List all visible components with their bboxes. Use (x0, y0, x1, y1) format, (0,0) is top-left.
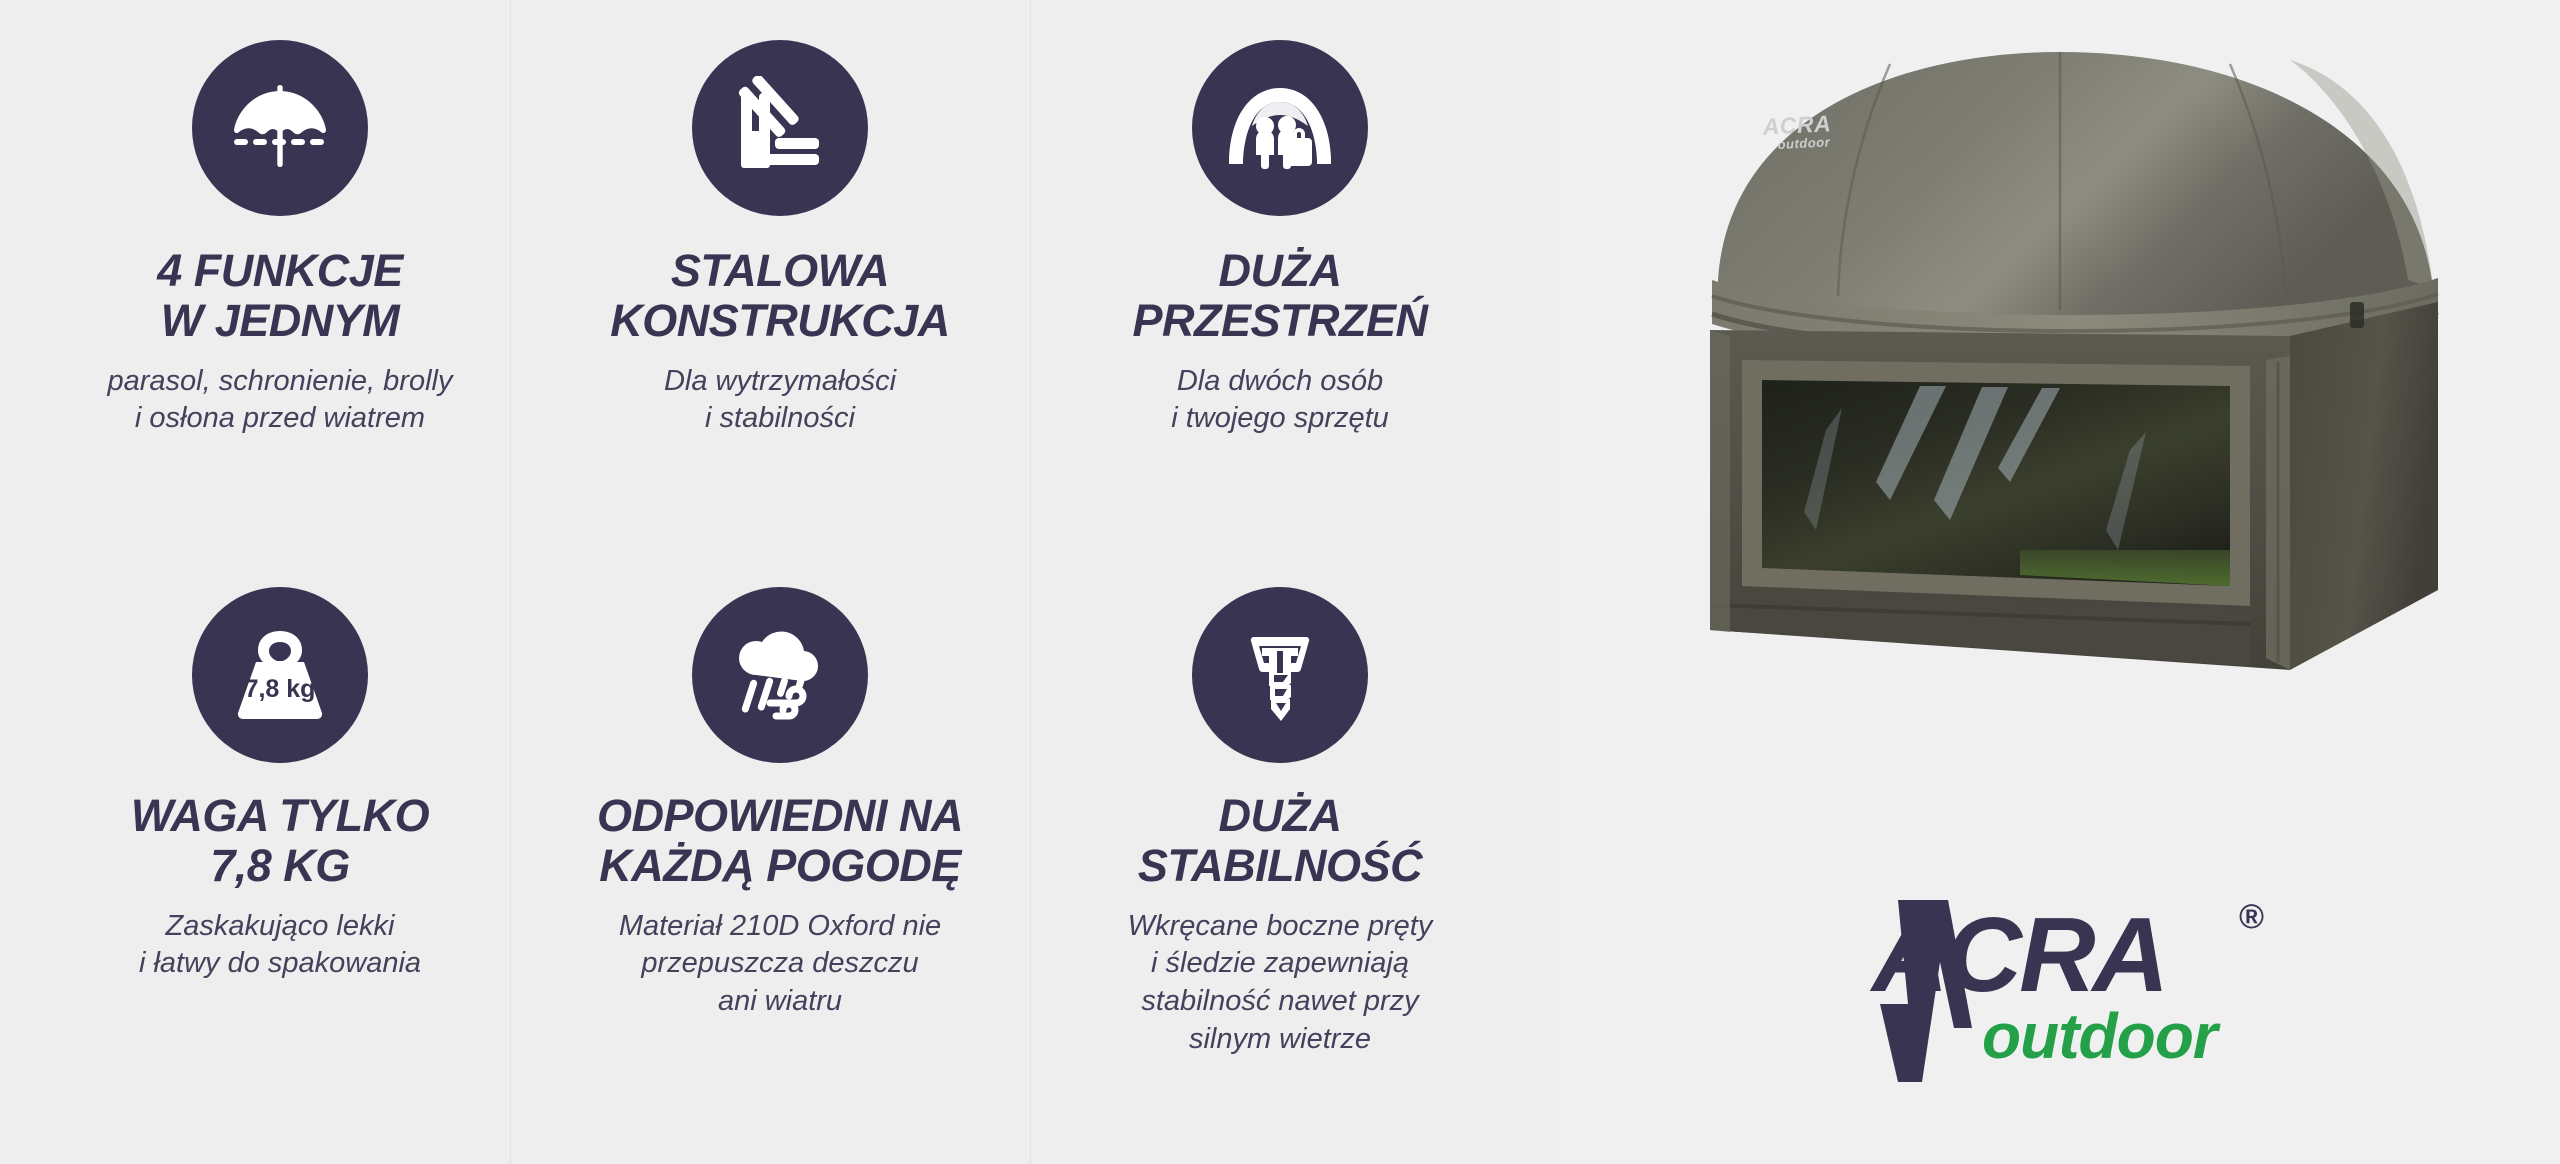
registered-trademark-icon: ® (2239, 900, 2264, 934)
weight-icon: 7,8 kg (192, 587, 368, 763)
feature-title: STALOWA KONSTRUKCJA (610, 246, 950, 347)
feature-description: Wkręcane boczne pręty i śledzie zapewnia… (1128, 908, 1433, 1059)
logo-wordmark: ACRA (1872, 902, 2166, 1008)
product-panel: ACRA outdoor ACRA ® outdoor (1560, 0, 2560, 1164)
rain-wind-cloud-icon (692, 587, 868, 763)
feature-title: ODPOWIEDNI NA KAŻDĄ POGODĘ (597, 791, 963, 892)
feature-description: Zaskakująco lekki i łatwy do spakowania (139, 908, 421, 983)
ground-screw-peg-icon (1192, 587, 1368, 763)
feature-title: DUŻA PRZESTRZEŃ (1132, 246, 1427, 347)
feature-card-all-weather: ODPOWIEDNI NA KAŻDĄ POGODĘ Materiał 210D… (530, 587, 1030, 1134)
feature-description: Dla wytrzymałości i stabilności (664, 363, 896, 438)
umbrella-icon (192, 40, 368, 216)
feature-description: parasol, schronienie, brolly i osłona pr… (108, 363, 453, 438)
logo-tagline: outdoor (1982, 1004, 2217, 1068)
features-panel: 4 FUNKCJE W JEDNYM parasol, schronienie,… (0, 0, 1560, 1164)
feature-card-4-functions: 4 FUNKCJE W JEDNYM parasol, schronienie,… (30, 40, 530, 587)
feature-card-weight: 7,8 kg WAGA TYLKO 7,8 KG Zaskakująco lek… (30, 587, 530, 1134)
feature-description: Materiał 210D Oxford nie przepuszcza des… (619, 908, 941, 1021)
product-photo: ACRA outdoor (1560, 20, 2560, 860)
feature-card-large-space: DUŻA PRZESTRZEŃ Dla dwóch osób i twojego… (1030, 40, 1530, 587)
feature-card-steel-frame: STALOWA KONSTRUKCJA Dla wytrzymałości i … (530, 40, 1030, 587)
feature-title: 4 FUNKCJE W JEDNYM (157, 246, 403, 347)
product-infographic: 4 FUNKCJE W JEDNYM parasol, schronienie,… (0, 0, 2560, 1164)
feature-title: DUŻA STABILNOŚĆ (1138, 791, 1422, 892)
feature-card-stability: DUŻA STABILNOŚĆ Wkręcane boczne pręty i … (1030, 587, 1530, 1134)
tent-with-people-icon (1192, 40, 1368, 216)
steel-frame-icon (692, 40, 868, 216)
feature-title: WAGA TYLKO 7,8 KG (131, 791, 429, 892)
feature-description: Dla dwóch osób i twojego sprzętu (1171, 363, 1389, 438)
weight-icon-label: 7,8 kg (245, 675, 316, 703)
acra-outdoor-logo: ACRA ® outdoor (1560, 896, 2560, 1086)
